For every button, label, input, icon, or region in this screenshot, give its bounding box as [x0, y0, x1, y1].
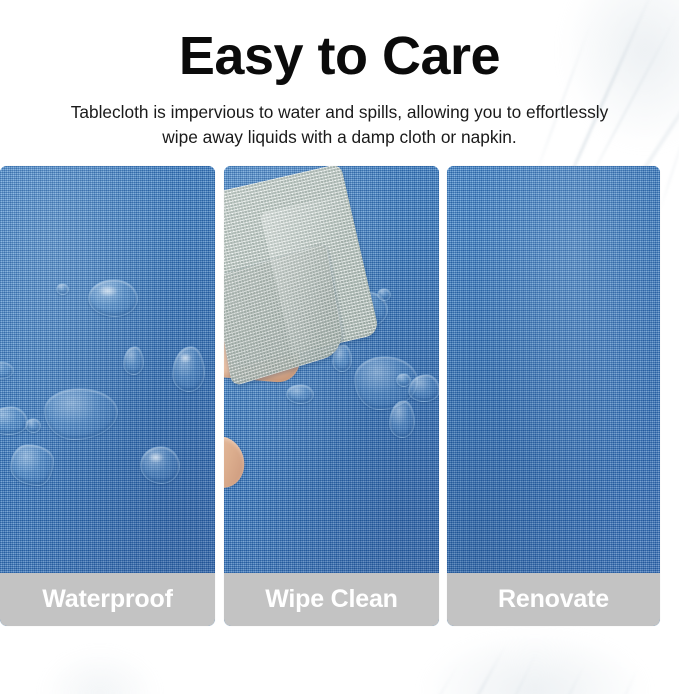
hand-with-cloth — [224, 184, 393, 514]
blue-tablecloth-fabric — [447, 166, 660, 573]
page-subtitle: Tablecloth is impervious to water and sp… — [0, 100, 679, 149]
water-droplet — [56, 283, 69, 295]
panel-caption-bar: Wipe Clean — [224, 573, 439, 626]
marble-vein — [535, 660, 588, 694]
marble-vein — [399, 658, 463, 694]
water-droplet — [140, 446, 180, 484]
feature-panel-row: Waterproof — [0, 166, 679, 626]
thumb — [224, 432, 248, 491]
feature-panel-renovate: Renovate — [447, 166, 660, 626]
marble-vein — [434, 641, 509, 694]
page-title: Easy to Care — [0, 26, 679, 86]
water-droplet — [10, 444, 54, 486]
panel-caption-label: Renovate — [498, 587, 609, 612]
subtitle-line-2: wipe away liquids with a damp cloth or n… — [0, 125, 679, 150]
water-droplet — [172, 346, 205, 392]
marble-smudge — [40, 648, 160, 694]
subtitle-line-1: Tablecloth is impervious to water and sp… — [0, 100, 679, 125]
water-droplet — [408, 374, 439, 402]
feature-panel-wipe-clean: Wipe Clean — [224, 166, 439, 626]
water-droplet — [88, 279, 138, 317]
marble-vein — [482, 646, 541, 694]
panel-caption-bar: Renovate — [447, 573, 660, 626]
panel-caption-bar: Waterproof — [0, 573, 215, 626]
feature-panel-waterproof: Waterproof — [0, 166, 215, 626]
marble-vein — [602, 663, 640, 694]
panel-caption-label: Waterproof — [42, 587, 172, 612]
panel-caption-label: Wipe Clean — [265, 587, 398, 612]
infographic-page: Easy to Care Tablecloth is impervious to… — [0, 0, 679, 694]
water-droplet — [123, 346, 144, 375]
marble-smudge — [420, 630, 650, 694]
